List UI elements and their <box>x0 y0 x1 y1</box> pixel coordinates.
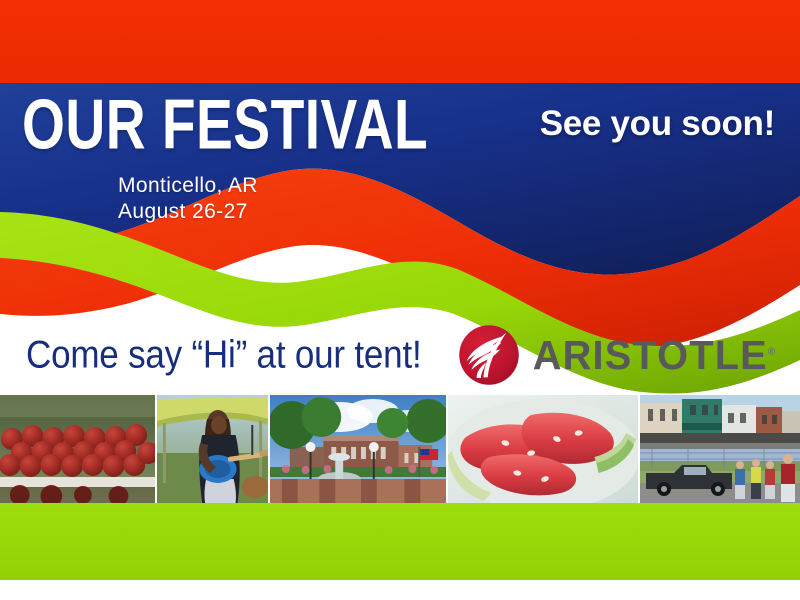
registered-trademark-symbol: ® <box>767 346 774 357</box>
photo-tomatoes <box>0 395 157 503</box>
aristotle-wordmark: ARISTOTLE® <box>532 332 774 379</box>
headline-block: OUR FESTIVAL Monticello, AR August 26-27 <box>22 92 452 224</box>
event-details: Monticello, AR August 26-27 <box>22 173 452 224</box>
festival-banner: OUR FESTIVAL Monticello, AR August 26-27… <box>0 0 800 600</box>
page-title: OUR FESTIVAL <box>22 92 418 157</box>
photo-strip <box>0 395 800 503</box>
bottom-white-band <box>0 580 800 600</box>
aristotle-quill-icon <box>458 324 520 386</box>
aristotle-logo: ARISTOTLE® <box>458 324 779 386</box>
event-dates: August 26-27 <box>118 199 452 225</box>
photo-guitarist <box>157 395 270 503</box>
see-you-soon-text: See you soon! <box>540 104 775 144</box>
tagline-row: Come say “Hi” at our tent! <box>0 318 800 392</box>
aristotle-wordmark-text: ARISTOTLE <box>532 332 767 378</box>
tagline-text: Come say “Hi” at our tent! <box>26 333 422 378</box>
event-location: Monticello, AR <box>118 173 452 199</box>
top-red-band <box>0 0 800 83</box>
bottom-green-band <box>0 503 800 580</box>
photo-watermelon <box>448 395 640 503</box>
photo-downtown-carshow <box>640 395 800 503</box>
photo-town-square <box>270 395 448 503</box>
